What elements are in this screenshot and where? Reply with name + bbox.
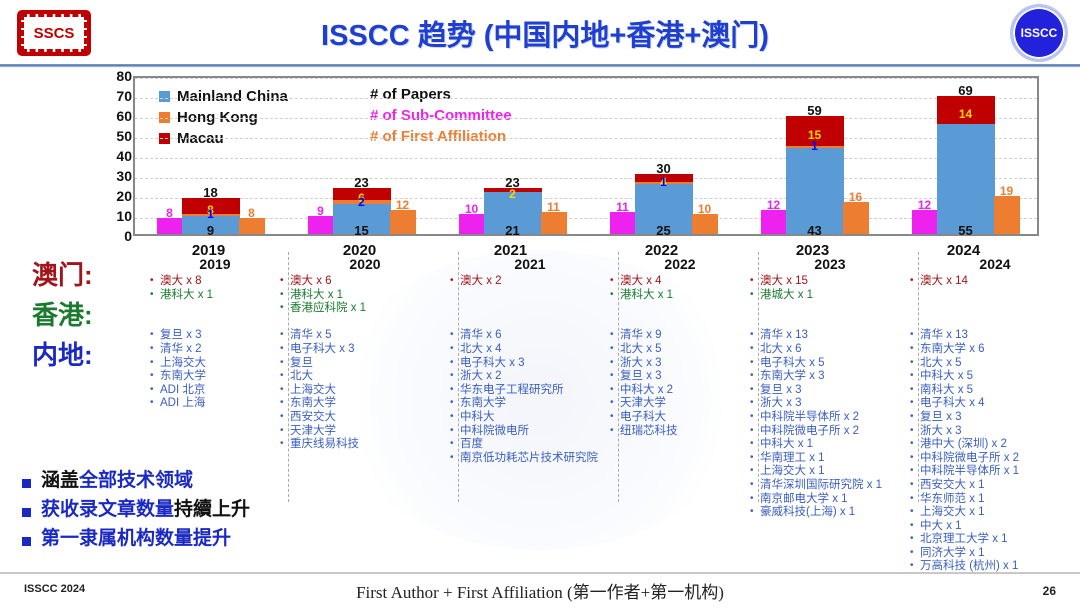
list-item: 复旦	[280, 357, 450, 371]
gridline-50	[135, 138, 1037, 139]
list-item: 港中大 (深圳) x 2	[910, 438, 1080, 452]
list-item: 港科大 x 1	[610, 289, 750, 303]
list-item: 港科大 x 1	[280, 289, 450, 303]
summary-bullet-text: 涵盖全部技术领域	[41, 470, 193, 492]
chart-y-axis: 01020304050607080	[96, 70, 132, 240]
list-item: 电子科大 x 5	[750, 357, 910, 371]
summary-bullet-2: 第一隶属机构数量提升	[22, 528, 352, 550]
list-item: 中科院半导体所 x 1	[910, 465, 1080, 479]
label-hongkong-2019: 1	[186, 207, 236, 221]
list-item: 澳大 x 14	[910, 275, 1080, 289]
affiliation-list: 澳大 x 14...清华 x 13东南大学 x 6北大 x 5中科大 x 5南科…	[910, 275, 1080, 574]
label-total-2022: 30	[639, 161, 689, 176]
y-tick-80: 80	[98, 71, 132, 81]
gridline-40	[135, 158, 1037, 159]
label-macau-2024: 14	[941, 107, 991, 121]
bar-subcommittee-2024	[912, 210, 938, 234]
list-item: 中科大 x 2	[610, 384, 750, 398]
list-item: 浙大 x 3	[750, 397, 910, 411]
label-macau-2021: 2	[488, 187, 538, 201]
bar-subcommittee-2022	[610, 212, 636, 234]
bullet-square-icon	[22, 537, 31, 546]
year-column-header: 2021	[450, 256, 610, 272]
slide-header: SSCS ISSCC 趋势 (中国内地+香港+澳门) ISSCC	[0, 0, 1080, 66]
list-item: 澳大 x 15	[750, 275, 910, 289]
list-item: 天津大学	[280, 425, 450, 439]
isscc-logo-text: ISSCC	[1021, 26, 1058, 40]
list-item: 南京低功耗芯片技术研究院	[450, 452, 610, 466]
gridline-30	[135, 178, 1037, 179]
list-item: 复旦 x 3	[910, 411, 1080, 425]
list-item: 复旦 x 3	[750, 384, 910, 398]
list-item: 豪威科技(上海) x 1	[750, 506, 910, 520]
list-item: 北大 x 4	[450, 343, 610, 357]
affiliation-list: 澳大 x 2...清华 x 6北大 x 4电子科大 x 3浙大 x 2华东电子工…	[450, 275, 610, 465]
year-column-2024: 2024澳大 x 14...清华 x 13东南大学 x 6北大 x 5中科大 x…	[910, 256, 1080, 574]
list-item: 上海交大 x 1	[750, 465, 910, 479]
bar-firstaffiliation-2020	[390, 210, 416, 234]
isscc-logo: ISSCC	[1010, 4, 1068, 62]
label-mainland-2024: 55	[941, 223, 991, 238]
row-label-mainland: 内地:	[32, 342, 93, 368]
legend-metric-0: # of Papers	[370, 86, 512, 107]
bar-firstaffiliation-2022	[692, 214, 718, 234]
row-label-hongkong: 香港:	[32, 302, 93, 328]
summary-bullet-1: 获收录文章数量持續上升	[22, 499, 352, 521]
label-mainland-2020: 15	[337, 223, 387, 238]
trend-bar-chart: 01020304050607080 Mainland ChinaHong Kon…	[0, 70, 1080, 260]
label-firstaffiliation-2021: 11	[534, 200, 574, 214]
year-column-header: 2020	[280, 256, 450, 272]
list-item: 东南大学 x 3	[750, 370, 910, 384]
affiliation-list: 澳大 x 8港科大 x 1..复旦 x 3清华 x 2上海交大东南大学ADI 北…	[150, 275, 280, 411]
y-tick-0: 0	[98, 231, 132, 241]
year-column-2023: 2023澳大 x 15港城大 x 1..清华 x 13北大 x 6电子科大 x …	[750, 256, 910, 520]
summary-bullet-0: 涵盖全部技术领域	[22, 470, 352, 492]
footer-divider	[0, 572, 1080, 574]
chart-plot-area: Mainland ChinaHong KongMacau # of Papers…	[133, 76, 1039, 236]
label-firstaffiliation-2022: 10	[685, 202, 725, 216]
legend-series-label: Mainland China	[177, 88, 288, 105]
list-item: 上海交大	[150, 357, 280, 371]
list-item: 同济大学 x 1	[910, 547, 1080, 561]
label-total-2019: 18	[186, 185, 236, 200]
year-column-header: 2023	[750, 256, 910, 272]
list-item: 中科院半导体所 x 2	[750, 411, 910, 425]
list-item: 华南理工 x 1	[750, 452, 910, 466]
bar-subcommittee-2021	[459, 214, 485, 234]
list-item: 纽瑞芯科技	[610, 425, 750, 439]
list-item: 浙大 x 2	[450, 370, 610, 384]
y-tick-60: 60	[98, 111, 132, 121]
list-item: 清华 x 2	[150, 343, 280, 357]
label-total-2024: 69	[941, 83, 991, 98]
bar-firstaffiliation-2019	[239, 218, 265, 234]
year-column-2021: 2021澳大 x 2...清华 x 6北大 x 4电子科大 x 3浙大 x 2华…	[450, 256, 610, 465]
label-firstaffiliation-2020: 12	[383, 198, 423, 212]
y-tick-70: 70	[98, 91, 132, 101]
list-item: 天津大学	[610, 397, 750, 411]
list-item: 清华深圳国际研究院 x 1	[750, 479, 910, 493]
list-item: 东南大学 x 6	[910, 343, 1080, 357]
list-item: 浙大 x 3	[610, 357, 750, 371]
list-item: 西安交大 x 1	[910, 479, 1080, 493]
bar-subcommittee-2019	[157, 218, 183, 234]
list-item: 清华 x 5	[280, 329, 450, 343]
list-item: ADI 北京	[150, 384, 280, 398]
label-mainland-2022: 25	[639, 223, 689, 238]
affiliation-list: 澳大 x 6港科大 x 1香港应科院 x 1.清华 x 5电子科大 x 3复旦北…	[280, 275, 450, 452]
legend-swatch-icon	[159, 91, 170, 102]
label-mainland-2019: 9	[186, 223, 236, 238]
list-item: 中科院微电子所 x 2	[750, 425, 910, 439]
bullet-square-icon	[22, 508, 31, 517]
segment-mainland-2024	[937, 124, 995, 234]
list-item: 澳大 x 4	[610, 275, 750, 289]
label-firstaffiliation-2019: 8	[232, 206, 272, 220]
y-tick-30: 30	[98, 171, 132, 181]
list-item: 上海交大 x 1	[910, 506, 1080, 520]
gridline-20	[135, 198, 1037, 199]
list-item: ADI 上海	[150, 397, 280, 411]
label-hongkong-2023: 1	[790, 139, 840, 153]
label-firstaffiliation-2024: 19	[987, 184, 1027, 198]
list-item: 中科大 x 5	[910, 370, 1080, 384]
list-item: 中科大 x 1	[750, 438, 910, 452]
year-column-2020: 2020澳大 x 6港科大 x 1香港应科院 x 1.清华 x 5电子科大 x …	[280, 256, 450, 452]
list-item: 电子科大 x 4	[910, 397, 1080, 411]
list-item: 北大 x 6	[750, 343, 910, 357]
y-tick-20: 20	[98, 191, 132, 201]
bullet-square-icon	[22, 479, 31, 488]
summary-bullet-text: 第一隶属机构数量提升	[41, 528, 231, 550]
sscs-logo: SSCS	[17, 10, 91, 56]
affiliation-list: 澳大 x 15港城大 x 1..清华 x 13北大 x 6电子科大 x 5东南大…	[750, 275, 910, 520]
list-item: 西安交大	[280, 411, 450, 425]
gridline-70	[135, 98, 1037, 99]
bar-firstaffiliation-2024	[994, 196, 1020, 234]
year-column-2022: 2022澳大 x 4港科大 x 1..清华 x 9北大 x 5浙大 x 3复旦 …	[610, 256, 750, 438]
list-item: 中大 x 1	[910, 520, 1080, 534]
footer-center-text: First Author + First Affiliation (第一作者+第…	[0, 578, 1080, 603]
gridline-80	[135, 78, 1037, 79]
affiliation-list: 澳大 x 4港科大 x 1..清华 x 9北大 x 5浙大 x 3复旦 x 3中…	[610, 275, 750, 438]
list-item: 香港应科院 x 1	[280, 302, 450, 316]
list-item: 北京理工大学 x 1	[910, 533, 1080, 547]
list-item: 澳大 x 6	[280, 275, 450, 289]
year-column-header: 2022	[610, 256, 750, 272]
legend-series-0: Mainland China	[159, 86, 288, 107]
year-column-header: 2024	[910, 256, 1080, 272]
year-column-2019: 2019澳大 x 8港科大 x 1..复旦 x 3清华 x 2上海交大东南大学A…	[150, 256, 280, 411]
list-item: 港科大 x 1	[150, 289, 280, 303]
y-tick-50: 50	[98, 131, 132, 141]
list-item: 电子科大	[610, 411, 750, 425]
list-item: 澳大 x 2	[450, 275, 610, 289]
list-item: 清华 x 13	[750, 329, 910, 343]
summary-bullet-text: 获收录文章数量持續上升	[41, 499, 250, 521]
list-item: 中科院微电所	[450, 425, 610, 439]
y-tick-10: 10	[98, 211, 132, 221]
list-item: 清华 x 9	[610, 329, 750, 343]
list-item: 重庆线易科技	[280, 438, 450, 452]
list-item: 复旦 x 3	[150, 329, 280, 343]
list-item: 浙大 x 3	[910, 425, 1080, 439]
list-item: 电子科大 x 3	[280, 343, 450, 357]
list-item: 中科大	[450, 411, 610, 425]
label-hongkong-2020: 2	[337, 195, 387, 209]
list-item: 港城大 x 1	[750, 289, 910, 303]
label-mainland-2023: 43	[790, 223, 840, 238]
footer-page-number: 26	[1043, 584, 1056, 598]
gridline-60	[135, 118, 1037, 119]
row-label-macau: 澳门:	[32, 262, 93, 288]
list-item: 北大 x 5	[610, 343, 750, 357]
list-item: 东南大学	[280, 397, 450, 411]
list-item: 澳大 x 8	[150, 275, 280, 289]
list-item: 清华 x 13	[910, 329, 1080, 343]
list-item: 北大 x 5	[910, 357, 1080, 371]
sscs-logo-text: SSCS	[34, 25, 75, 42]
year-column-header: 2019	[150, 256, 280, 272]
label-hongkong-2022: 1	[639, 175, 689, 189]
y-tick-40: 40	[98, 151, 132, 161]
list-item: 华东师范 x 1	[910, 493, 1080, 507]
list-item: 北大	[280, 370, 450, 384]
list-item: 华东电子工程研究所	[450, 384, 610, 398]
bar-subcommittee-2020	[308, 216, 334, 234]
summary-bullets: 涵盖全部技术领域获收录文章数量持續上升第一隶属机构数量提升	[22, 470, 352, 557]
label-mainland-2021: 21	[488, 223, 538, 238]
label-total-2023: 59	[790, 103, 840, 118]
list-item: 中科院微电子所 x 2	[910, 452, 1080, 466]
list-item: 东南大学	[450, 397, 610, 411]
label-total-2020: 23	[337, 175, 387, 190]
list-item: 东南大学	[150, 370, 280, 384]
bar-subcommittee-2023	[761, 210, 787, 234]
list-item: 电子科大 x 3	[450, 357, 610, 371]
header-divider	[0, 64, 1080, 69]
label-firstaffiliation-2023: 16	[836, 190, 876, 204]
list-item: 南科大 x 5	[910, 384, 1080, 398]
list-item: 上海交大	[280, 384, 450, 398]
bar-firstaffiliation-2023	[843, 202, 869, 234]
bar-firstaffiliation-2021	[541, 212, 567, 234]
list-item: 百度	[450, 438, 610, 452]
list-item: 复旦 x 3	[610, 370, 750, 384]
page-title: ISSCC 趋势 (中国内地+香港+澳门)	[130, 12, 960, 54]
list-item: 清华 x 6	[450, 329, 610, 343]
list-item: 南京邮电大学 x 1	[750, 493, 910, 507]
